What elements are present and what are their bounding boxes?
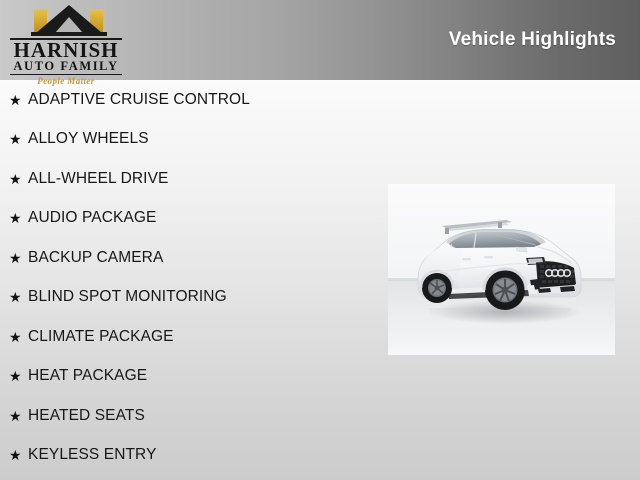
star-icon: ★ xyxy=(9,93,28,107)
vehicle-photo xyxy=(388,184,615,355)
list-item: ★ KEYLESS ENTRY xyxy=(0,436,370,476)
list-item: ★ BLIND SPOT MONITORING xyxy=(0,278,370,318)
star-icon: ★ xyxy=(9,448,28,462)
star-icon: ★ xyxy=(9,330,28,344)
vehicle-highlights-list: ★ ADAPTIVE CRUISE CONTROL ★ ALLOY WHEELS… xyxy=(0,80,370,475)
feature-label: ADAPTIVE CRUISE CONTROL xyxy=(28,91,250,109)
page-header: HARNISH AUTO FAMILY People Matter Vehicl… xyxy=(0,0,640,80)
star-icon: ★ xyxy=(9,290,28,304)
vehicle-illustration-icon xyxy=(388,184,615,355)
feature-label: KEYLESS ENTRY xyxy=(28,446,157,464)
list-item: ★ ADAPTIVE CRUISE CONTROL xyxy=(0,80,370,120)
logo-subtitle: AUTO FAMILY xyxy=(8,60,124,73)
page-title: Vehicle Highlights xyxy=(449,29,616,51)
feature-label: BLIND SPOT MONITORING xyxy=(28,288,227,306)
list-item: ★ ALLOY WHEELS xyxy=(0,120,370,160)
feature-label: BACKUP CAMERA xyxy=(28,249,163,267)
harnish-a-monogram-icon xyxy=(28,6,110,36)
logo-a-inner-triangle xyxy=(55,17,83,33)
logo-a-base-bar xyxy=(31,32,107,36)
dealer-logo[interactable]: HARNISH AUTO FAMILY People Matter xyxy=(8,4,128,78)
feature-label: HEAT PACKAGE xyxy=(28,367,147,385)
logo-divider-bottom xyxy=(10,74,122,75)
list-item: ★ HEAT PACKAGE xyxy=(0,357,370,397)
feature-label: CLIMATE PACKAGE xyxy=(28,328,174,346)
list-item: ★ CLIMATE PACKAGE xyxy=(0,317,370,357)
list-item: ★ AUDIO PACKAGE xyxy=(0,199,370,239)
list-item: ★ HEATED SEATS xyxy=(0,396,370,436)
star-icon: ★ xyxy=(9,172,28,186)
star-icon: ★ xyxy=(9,369,28,383)
logo-name: HARNISH xyxy=(8,40,124,60)
vehicle-highlights-page: HARNISH AUTO FAMILY People Matter Vehicl… xyxy=(0,0,640,480)
feature-label: ALL-WHEEL DRIVE xyxy=(28,170,168,188)
star-icon: ★ xyxy=(9,409,28,423)
star-icon: ★ xyxy=(9,251,28,265)
feature-label: AUDIO PACKAGE xyxy=(28,209,157,227)
feature-label: HEATED SEATS xyxy=(28,407,145,425)
star-icon: ★ xyxy=(9,211,28,225)
star-icon: ★ xyxy=(9,132,28,146)
list-item: ★ BACKUP CAMERA xyxy=(0,238,370,278)
list-item: ★ ALL-WHEEL DRIVE xyxy=(0,159,370,199)
feature-label: ALLOY WHEELS xyxy=(28,130,149,148)
